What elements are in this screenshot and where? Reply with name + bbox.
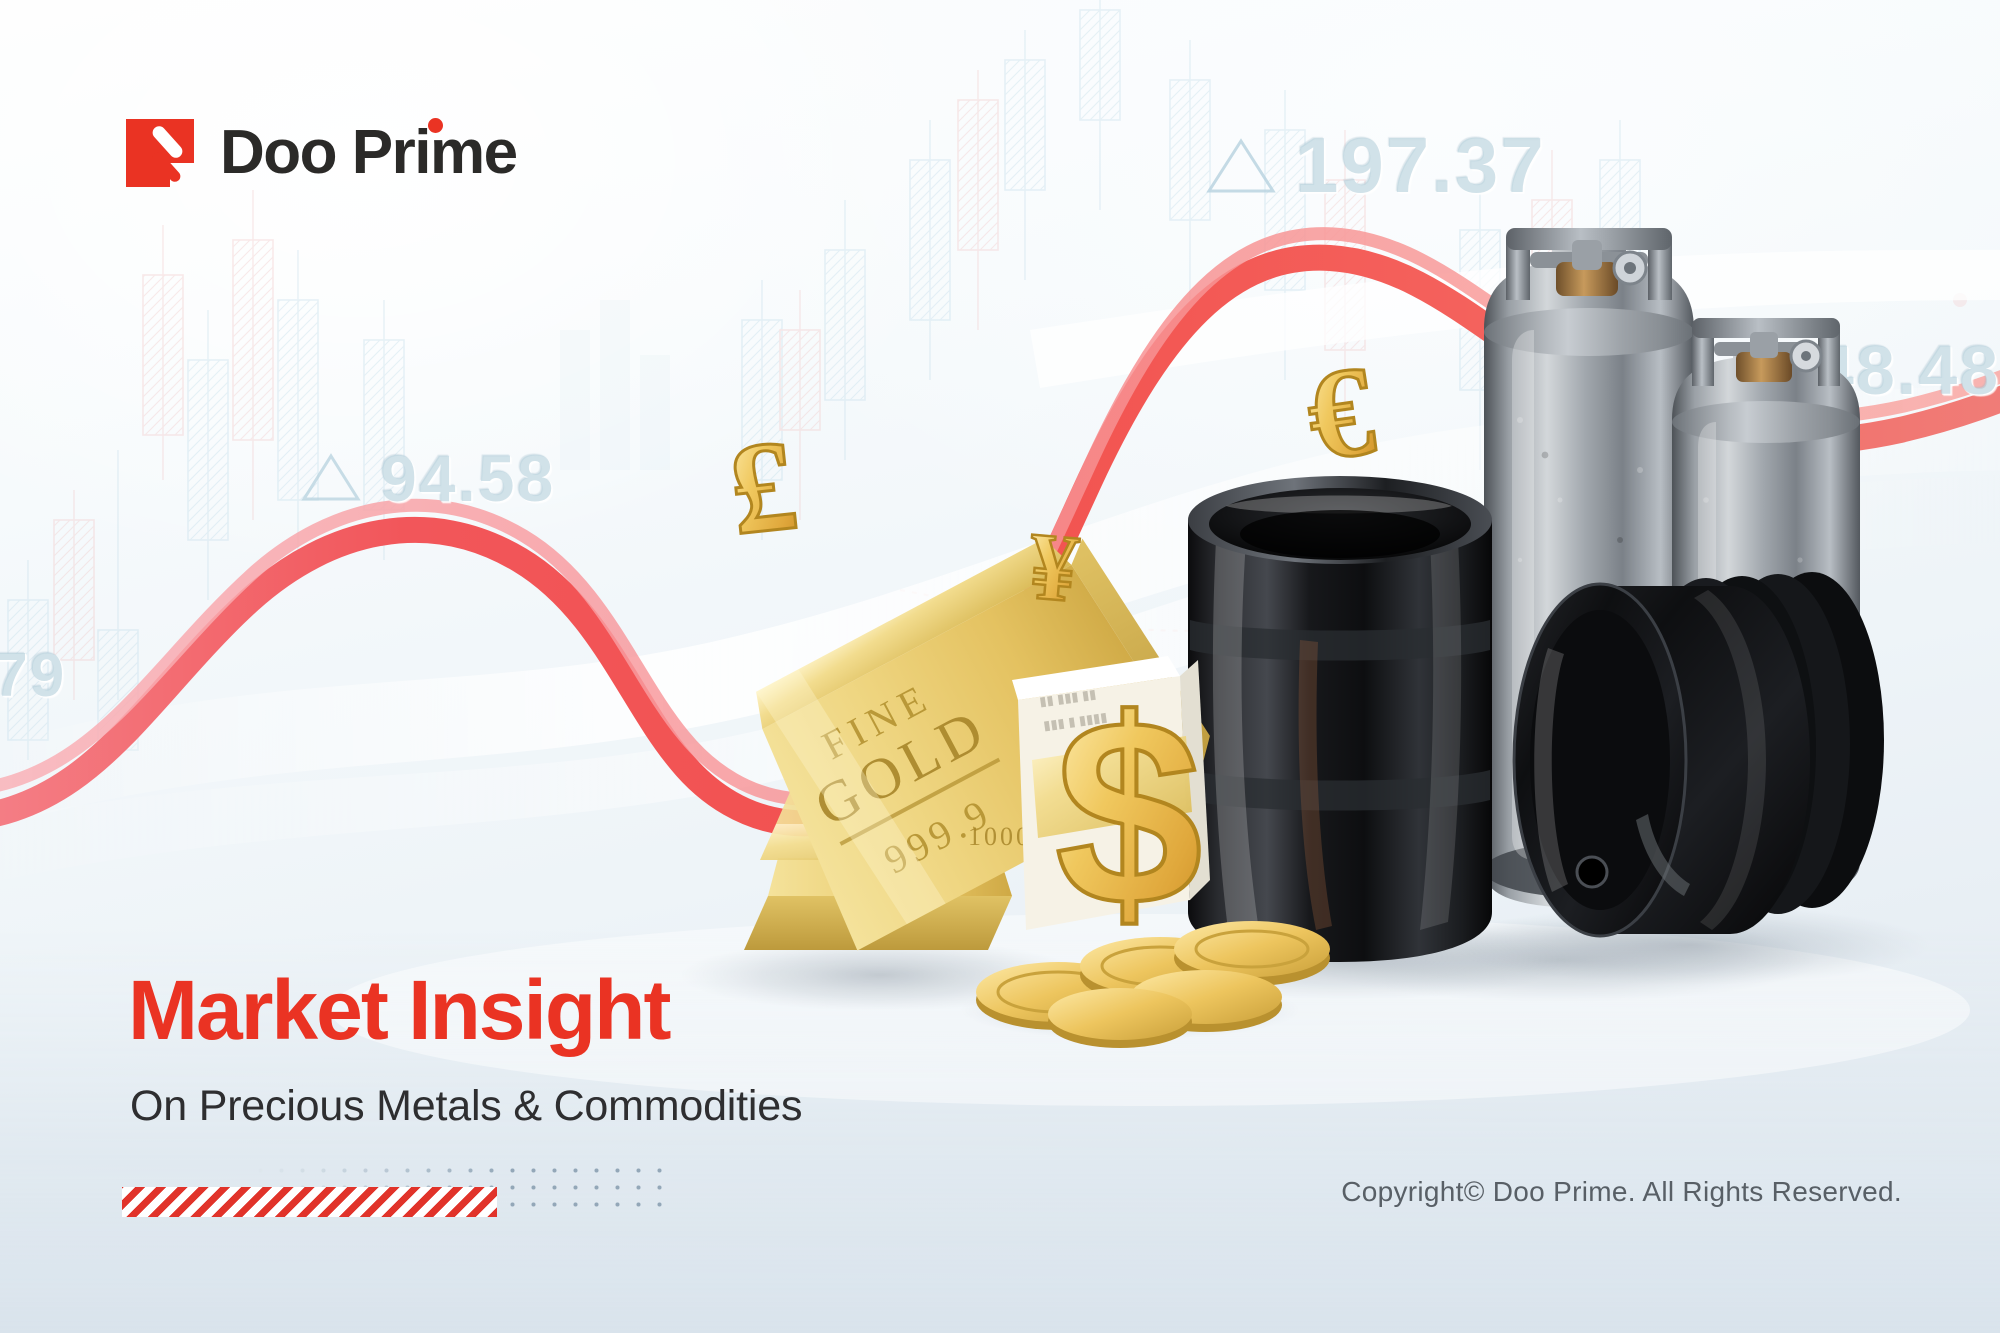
doo-prime-logo[interactable]: Doo Prime — [126, 119, 517, 187]
dollar-plinth: ▮▮ ▮▮▮ ▮▮ ▮▮▮ ▮ ▮▮▮▮ — [1012, 656, 1210, 930]
triangle-up-icon — [1205, 135, 1277, 197]
doo-prime-wordmark: Doo Prime — [220, 122, 517, 184]
commodities-3d-scene: FINE GOLD 999.9 1000 g ▮▮ ▮▮▮ ▮▮ ▮▮▮ ▮ ▮… — [0, 0, 2000, 1333]
background-candlestick-chart — [0, 0, 2000, 1333]
page-title: Market Insight — [128, 966, 669, 1054]
gold-bars: FINE GOLD 999.9 1000 g — [728, 513, 1221, 950]
ticker-value: .79 — [0, 640, 66, 711]
background-silk-waves — [0, 0, 2000, 1333]
ticker-value: 148.48 — [1774, 330, 2000, 410]
brand-name: Doo Prime — [220, 118, 517, 187]
yen-symbol: ¥ — [1025, 512, 1082, 623]
svg-text:€: € — [1299, 339, 1382, 489]
svg-text:▮▮▮ ▮ ▮▮▮▮: ▮▮▮ ▮ ▮▮▮▮ — [1042, 709, 1108, 733]
svg-text:¥: ¥ — [1025, 512, 1082, 623]
copyright-text: Copyright© Doo Prime. All Rights Reserve… — [1341, 1176, 1902, 1208]
gas-cylinder-large — [1484, 228, 1694, 908]
gold-bar-weight: 1000 g — [968, 822, 1058, 851]
dollar-symbol: $ — [1055, 665, 1203, 961]
gold-bar-line1: FINE — [815, 674, 939, 769]
ticker-value: 197.37 — [1295, 120, 1546, 211]
svg-text:$: $ — [1055, 665, 1203, 961]
object-shadows — [680, 905, 1930, 1040]
logo-dot — [428, 118, 443, 133]
gold-bar-line3: 999.9 — [877, 789, 1000, 883]
euro-symbol: € — [1299, 339, 1382, 489]
oil-barrel-open — [1188, 476, 1492, 962]
svg-text:▮▮ ▮▮▮ ▮▮: ▮▮ ▮▮▮ ▮▮ — [1038, 686, 1097, 709]
ticker-197: 197.37 — [1205, 120, 1546, 211]
ticker-148: 148.48 — [1690, 330, 2000, 410]
triangle-up-icon — [300, 451, 362, 505]
ticker-94: 94.58 — [300, 440, 555, 516]
doo-prime-logo-icon — [126, 119, 194, 187]
gold-bar-line2: GOLD — [804, 695, 998, 839]
ticker-179: .79 — [0, 640, 66, 711]
market-insight-banner: 197.37 148.48 94.58 .79 — [0, 0, 2000, 1333]
gold-coins — [976, 921, 1330, 1048]
striped-accent-bar — [122, 1187, 497, 1217]
ticker-value: 94.58 — [380, 440, 555, 516]
pound-symbol: £ — [723, 413, 803, 563]
svg-text:£: £ — [723, 413, 803, 563]
page-subtitle: On Precious Metals & Commodities — [130, 1082, 802, 1131]
oil-barrel-stack — [1514, 572, 1884, 936]
triangle-down-icon — [1690, 342, 1756, 398]
